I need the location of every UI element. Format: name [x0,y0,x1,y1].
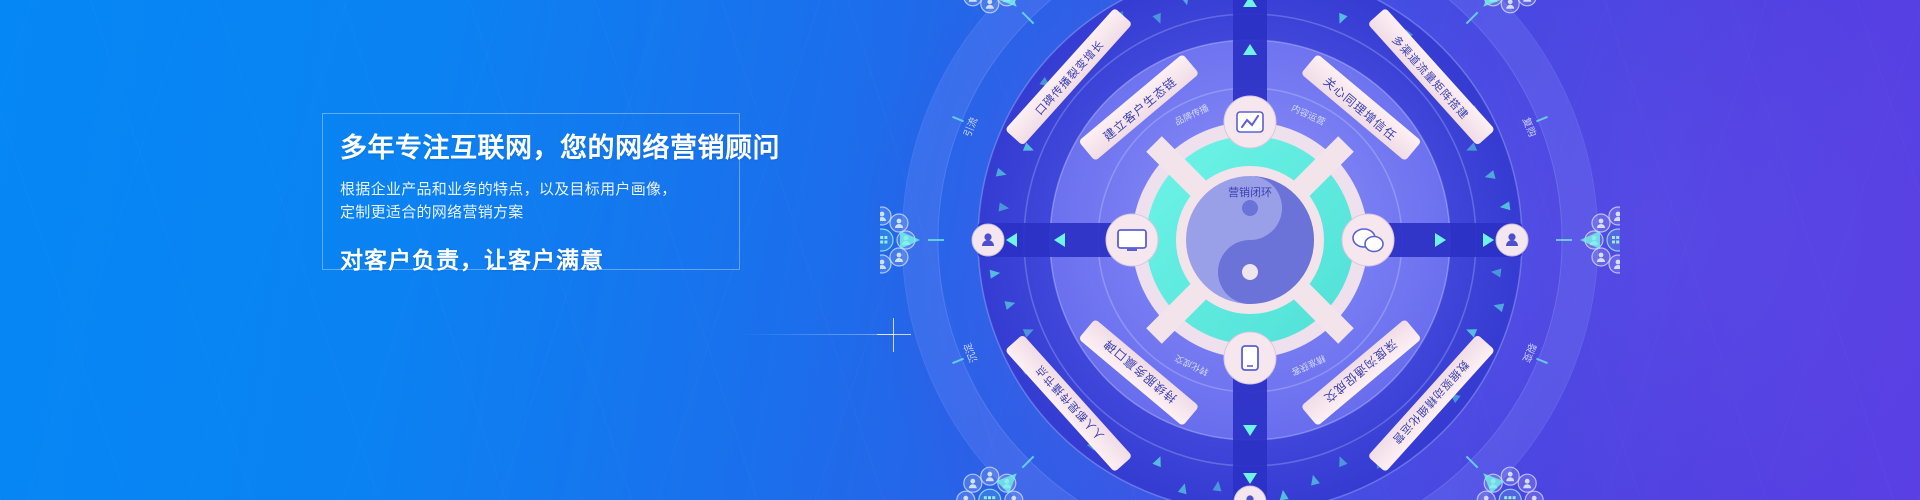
wheel-center-label: 营销闭环 [1228,185,1272,199]
chart-icon-svg [1237,112,1263,132]
copy-block: 多年专注互联网，您的网络营销顾问 根据企业产品和业务的特点，以及目标用户画像， … [340,133,760,275]
monitor-icon-svg [1118,230,1146,251]
subtitle-line-1: 根据企业产品和业务的特点，以及目标用户画像， [340,178,760,201]
decorative-hairline [740,334,895,335]
tick-label-7: 沉淀 [961,341,981,364]
slogan: 对客户负责，让客户满意 [340,241,760,275]
tick-label-0: 引流 [961,115,981,138]
wheel-svg: 营销闭环 建立客户生态链 关心同理增信任 深度沟通促成交 持续服务赢口碑 [880,0,1620,500]
marketing-banner: 营销闭环 建立客户生态链 关心同理增信任 深度沟通促成交 持续服务赢口碑 [0,0,1920,500]
crosshair-marker-icon [877,318,911,352]
tick-label-4: 裂变 [1520,341,1540,364]
subtitle-line-2: 定制更适合的网络营销方案 [340,201,760,224]
subtitle: 根据企业产品和业务的特点，以及目标用户画像， 定制更适合的网络营销方案 [340,178,760,225]
marketing-wheel-diagram: 营销闭环 建立客户生态链 关心同理增信任 深度沟通促成交 持续服务赢口碑 [880,0,1620,500]
page-title: 多年专注互联网，您的网络营销顾问 [340,133,760,164]
mobile-icon-svg [1242,346,1258,370]
tick-label-3: 复购 [1520,115,1540,138]
